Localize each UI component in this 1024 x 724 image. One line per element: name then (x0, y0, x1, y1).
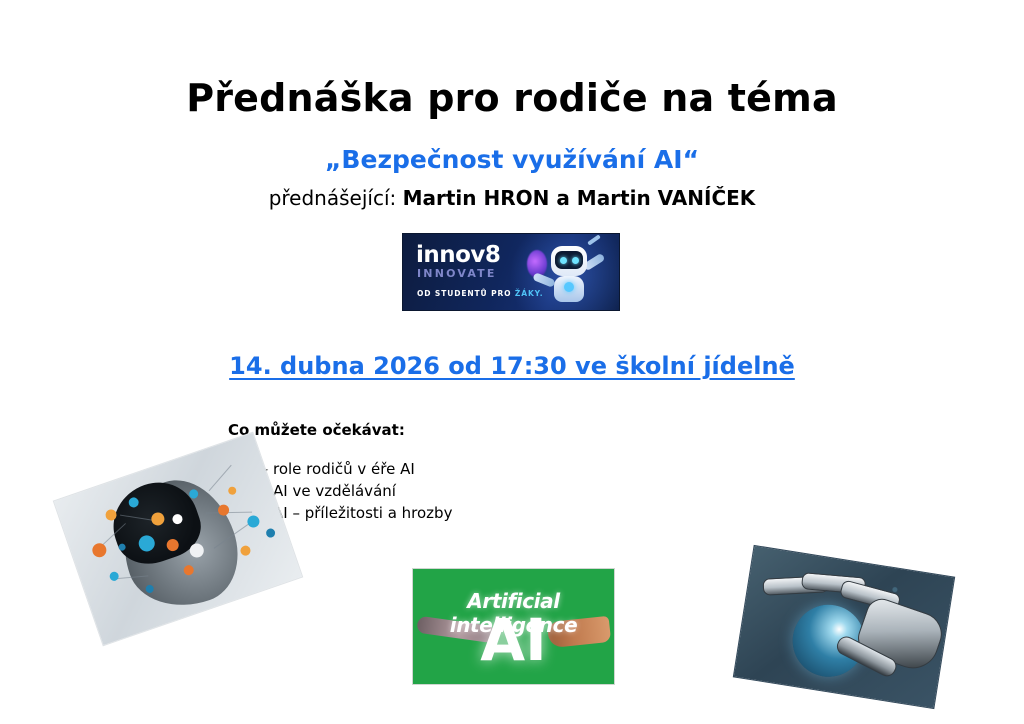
presenter-names: Martin HRON a Martin VANÍČEK (403, 186, 756, 210)
poster-canvas: Přednáška pro rodiče na téma „Bezpečnost… (0, 0, 1024, 724)
artificial-intelligence-green-photo: Artificial intelligence AI (412, 568, 615, 685)
page-title: Přednáška pro rodiče na téma (0, 76, 1024, 120)
date-and-place: 14. dubna 2026 od 17:30 ve školní jídeln… (0, 352, 1024, 380)
network-node (108, 571, 119, 582)
robot-hand-globe-photo (733, 545, 955, 709)
network-node (265, 527, 276, 538)
robot-mascot-icon (521, 233, 613, 310)
robot-arm-left (532, 272, 555, 288)
innovate-subwordmark: INNOVATE (417, 268, 497, 279)
robot-antenna (587, 234, 601, 245)
robot-eye-right (572, 257, 579, 264)
network-node (227, 486, 237, 496)
network-node (246, 514, 261, 529)
list-item: ➢AI ve vzdělávání (258, 481, 452, 503)
presenter-label: přednášející: (269, 186, 397, 210)
list-item-label: role rodičů v éře AI (273, 460, 415, 478)
list-item: ➢role rodičů v éře AI (258, 459, 452, 481)
ai-big-label: AI (413, 611, 614, 669)
expectations-list: ➢role rodičů v éře AI ➢AI ve vzdělávání … (258, 459, 452, 525)
presenter-line: přednášející: Martin HRON a Martin VANÍČ… (0, 186, 1024, 210)
banner-tagline-prefix: OD STUDENTŮ PRO (417, 289, 515, 298)
network-node (239, 544, 252, 557)
innov8-wordmark: innov8 (416, 244, 500, 267)
list-item: ➢AI – příležitosti a hrozby (258, 503, 452, 525)
robot-core-light (564, 282, 574, 292)
list-item-label: AI ve vzdělávání (273, 482, 396, 500)
date-and-place-text: 14. dubna 2026 od 17:30 ve školní jídeln… (229, 352, 795, 380)
lecture-topic-subtitle: „Bezpečnost využívání AI“ (0, 145, 1024, 174)
network-node (90, 541, 108, 559)
robot-eye-left (560, 257, 567, 264)
list-item-label: AI – příležitosti a hrozby (273, 504, 452, 522)
innov8-banner: innov8 INNOVATE OD STUDENTŮ PRO ŽÁKY. (402, 233, 620, 311)
